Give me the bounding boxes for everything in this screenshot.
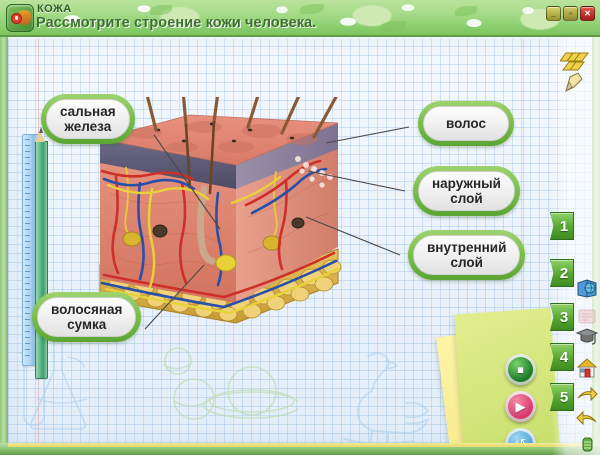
notes-icon[interactable] xyxy=(576,305,598,327)
window-controls: _ ▫ ✕ xyxy=(546,6,595,21)
pencil-icon xyxy=(566,73,582,91)
step-flag-3[interactable]: 3 xyxy=(550,303,574,331)
worksheet-canvas: сальная железа волосяная сумка волос нар… xyxy=(8,39,592,443)
close-button[interactable]: ✕ xyxy=(580,6,595,21)
home-icon[interactable] xyxy=(576,357,598,379)
maximize-icon: ▫ xyxy=(564,7,577,20)
reset-icon: ↺ xyxy=(515,437,526,443)
callout-line: слой xyxy=(427,255,506,270)
next-arrow-icon[interactable] xyxy=(576,385,598,407)
step-flag-label: 2 xyxy=(560,265,568,282)
callout-line: сальная xyxy=(60,104,116,119)
callout-line: наружный xyxy=(432,176,501,191)
prev-arrow-icon[interactable] xyxy=(576,409,598,431)
maximize-button[interactable]: ▫ xyxy=(563,6,578,21)
play-icon: ▶ xyxy=(516,400,526,413)
duck-sketch-watermark xyxy=(326,339,446,443)
app-badge-icon xyxy=(6,4,34,32)
graduation-cap-icon[interactable] xyxy=(576,325,598,347)
callout-line: железа xyxy=(60,119,116,134)
minimize-button[interactable]: _ xyxy=(546,6,561,21)
step-flag-2[interactable]: 2 xyxy=(550,259,574,287)
callout-line: сумка xyxy=(51,317,122,332)
step-flag-label: 3 xyxy=(560,309,568,326)
application-window: КОЖА Рассмотрите строение кожи человека.… xyxy=(0,0,600,455)
window-title: КОЖА xyxy=(37,3,72,15)
step-flag-1[interactable]: 1 xyxy=(550,212,574,240)
top-marks xyxy=(560,49,594,95)
step-flag-label: 1 xyxy=(560,218,568,235)
chevrons-icon xyxy=(560,49,594,95)
frame-left-edge xyxy=(0,37,8,455)
step-flag-4[interactable]: 4 xyxy=(550,343,574,371)
callout-line: волосяная xyxy=(51,302,122,317)
callout-line: слой xyxy=(432,191,501,206)
step-flag-5[interactable]: 5 xyxy=(550,383,574,411)
step-flag-label: 5 xyxy=(560,389,568,406)
book-globe-icon[interactable] xyxy=(576,277,598,299)
exit-icon[interactable] xyxy=(576,433,598,455)
callout-hair[interactable]: волос xyxy=(418,101,514,146)
stop-icon: ⏹ xyxy=(517,363,524,376)
stop-button[interactable]: ⏹ xyxy=(505,354,536,385)
callout-hair-follicle[interactable]: волосяная сумка xyxy=(32,292,141,342)
frame-bottom-edge xyxy=(0,443,600,455)
planets-sketch-watermark xyxy=(148,339,298,439)
callout-outer-layer[interactable]: наружный слой xyxy=(413,166,520,216)
minimize-icon: _ xyxy=(547,7,560,20)
callout-line: волос xyxy=(446,116,486,131)
callout-sebaceous-gland[interactable]: сальная железа xyxy=(41,94,135,144)
close-icon: ✕ xyxy=(581,7,594,20)
pencil-decoration xyxy=(35,127,46,377)
step-flag-label: 4 xyxy=(560,349,568,366)
right-toolbar: 1 2 3 4 5 xyxy=(552,37,600,455)
play-button[interactable]: ▶ xyxy=(505,391,536,422)
window-subtitle: Рассмотрите строение кожи человека. xyxy=(36,15,316,31)
callout-line: внутренний xyxy=(427,240,506,255)
title-bar: КОЖА Рассмотрите строение кожи человека.… xyxy=(0,0,600,37)
callout-inner-layer[interactable]: внутренний слой xyxy=(408,230,525,280)
